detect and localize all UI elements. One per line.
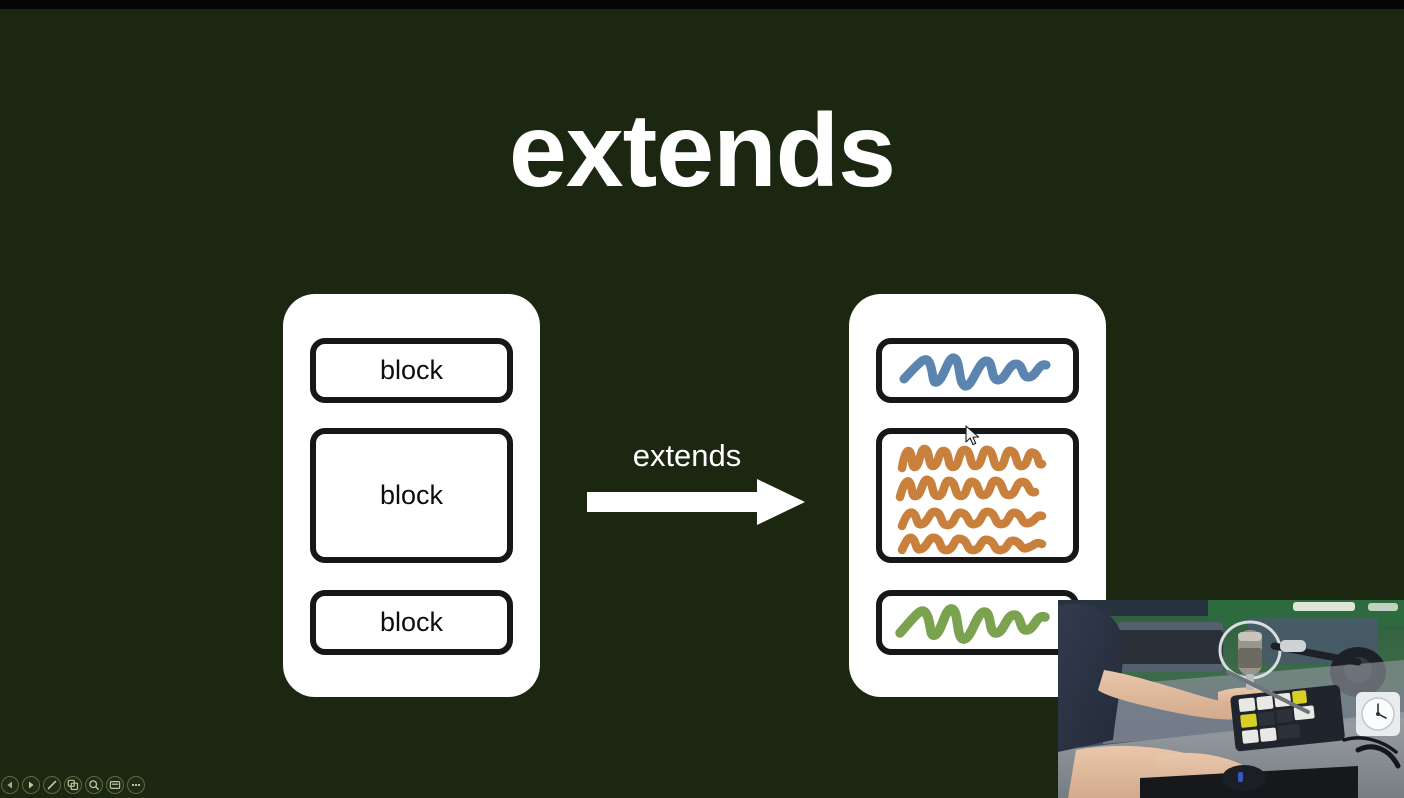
block-label: block [380,357,443,384]
more-options-button[interactable] [127,776,145,794]
previous-slide-button[interactable] [1,776,19,794]
extends-arrow-group: extends [585,438,805,528]
blue-scribble-icon [882,344,1073,397]
triangle-right-icon [26,780,36,790]
triangle-left-icon [5,780,15,790]
presenter-webcam[interactable] [1058,600,1404,798]
template-block-3: block [310,590,513,655]
grid-icon [67,779,79,791]
slide-overview-button[interactable] [64,776,82,794]
presentation-stage: extends block block block [0,0,1404,798]
next-slide-button[interactable] [22,776,40,794]
template-card: block block block [283,294,540,697]
zoom-button[interactable] [85,776,103,794]
letterbox-bar [0,0,1404,9]
arrow-label: extends [585,438,789,474]
pen-tool-button[interactable] [43,776,61,794]
green-scribble-icon [882,596,1073,649]
child-block-1 [876,338,1079,403]
template-block-2: block [310,428,513,563]
block-label: block [380,482,443,509]
presenter-toolbar [0,774,145,796]
magnifier-icon [88,779,100,791]
child-block-2 [876,428,1079,563]
page-title: extends [0,97,1404,206]
pen-icon [46,779,58,791]
block-label: block [380,609,443,636]
template-block-1: block [310,338,513,403]
presenter-notes-button[interactable] [106,776,124,794]
orange-scribble-icon [882,434,1073,557]
ellipsis-icon [130,779,142,791]
child-block-3 [876,590,1079,655]
screen-icon [109,779,121,791]
webcam-video-frame [1058,600,1404,798]
arrow-right-icon [587,479,805,525]
